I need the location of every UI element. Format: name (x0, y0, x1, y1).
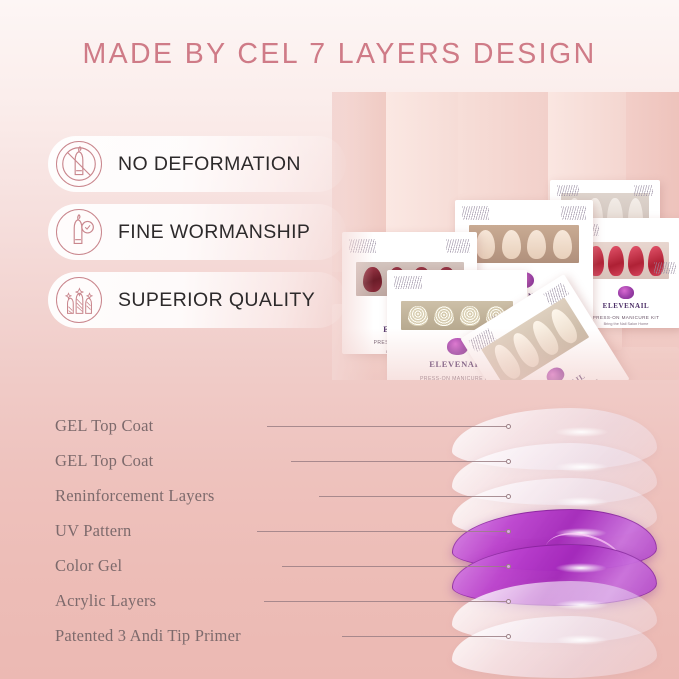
leader-dot (506, 424, 511, 429)
feature-fine-wormanship: FINE WORMANSHIP (48, 204, 346, 260)
layer-label: Patented 3 Andi Tip Primer (55, 626, 241, 646)
kit-line: PRESS-ON MANICURE KIT (593, 315, 660, 320)
brand-logo (544, 364, 567, 380)
feature-superior-quality: SUPERIOR QUALITY (48, 272, 346, 328)
product-photo: ELEVENAIL PRESS-ON MANICURE KIT Bring th… (332, 92, 679, 380)
layer-label: UV Pattern (55, 521, 131, 541)
infographic-page: MADE BY CEL 7 LAYERS DESIGN (0, 0, 679, 679)
brand-name: ELEVENAIL (603, 302, 650, 310)
nails-sparkle-icon (56, 277, 102, 323)
layer-label: Color Gel (55, 556, 122, 576)
brand-logo (618, 286, 634, 299)
layer-row: Acrylic Layers (0, 584, 679, 618)
nail-check-icon (56, 209, 102, 255)
leader-dot (506, 564, 511, 569)
feature-label: FINE WORMANSHIP (118, 221, 310, 244)
layer-diagram: GEL Top Coat GEL Top Coat Reninforcement… (0, 392, 679, 679)
layer-row: Color Gel (0, 549, 679, 583)
layer-row: Reninforcement Layers (0, 479, 679, 513)
tag-line: Bring the Nail Salon Home (604, 322, 649, 326)
leader-dot (506, 634, 511, 639)
kit-line: PRESS-ON MANICURE KIT (420, 376, 494, 380)
leader-dot (506, 599, 511, 604)
layer-row: GEL Top Coat (0, 444, 679, 478)
leader-dot (506, 459, 511, 464)
layer-label: GEL Top Coat (55, 416, 153, 436)
leader-dot (506, 529, 511, 534)
feature-list: NO DEFORMATION FINE WORMANSHIP (48, 136, 346, 340)
layer-label: Reninforcement Layers (55, 486, 215, 506)
nail-no-deformation-icon (56, 141, 102, 187)
feature-label: SUPERIOR QUALITY (118, 289, 315, 312)
leader-dot (506, 494, 511, 499)
layer-label: Acrylic Layers (55, 591, 156, 611)
layer-label: GEL Top Coat (55, 451, 153, 471)
feature-no-deformation: NO DEFORMATION (48, 136, 346, 192)
page-title: MADE BY CEL 7 LAYERS DESIGN (0, 38, 679, 71)
layer-row: Patented 3 Andi Tip Primer (0, 619, 679, 653)
layer-row: GEL Top Coat (0, 409, 679, 443)
layer-row: UV Pattern (0, 514, 679, 548)
feature-label: NO DEFORMATION (118, 153, 301, 176)
